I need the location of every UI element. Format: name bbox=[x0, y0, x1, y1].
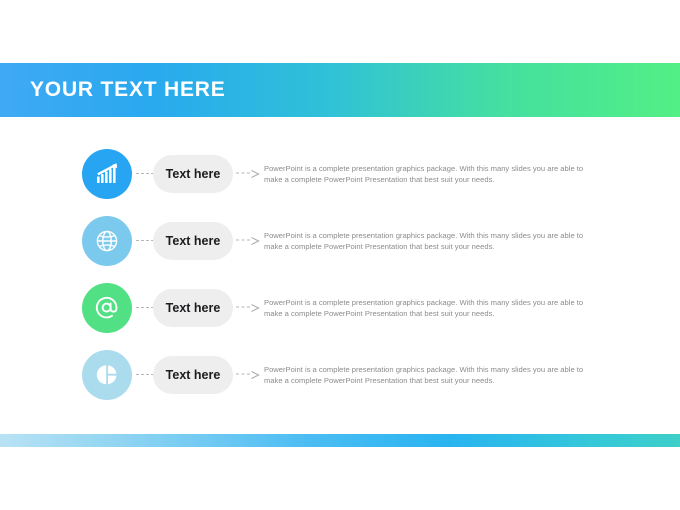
pill-label: Text here bbox=[166, 301, 221, 315]
pill-label: Text here bbox=[166, 234, 221, 248]
connector-dash-left bbox=[136, 240, 154, 242]
bar-chart-growth-icon bbox=[94, 161, 120, 187]
row-paragraph: PowerPoint is a complete presentation gr… bbox=[264, 364, 594, 386]
page-title: YOUR TEXT HERE bbox=[30, 78, 226, 102]
connector-dash-left bbox=[136, 173, 154, 175]
content-rows: Text here PowerPoint is a complete prese… bbox=[0, 140, 680, 408]
list-item[interactable]: Text here PowerPoint is a complete prese… bbox=[0, 140, 680, 207]
connector-dash-right bbox=[236, 303, 260, 312]
footer-band bbox=[0, 434, 680, 447]
connector-dash-right bbox=[236, 169, 260, 178]
globe-icon bbox=[94, 228, 120, 254]
icon-badge-bar-chart[interactable] bbox=[82, 149, 132, 199]
arrow-right-icon bbox=[251, 370, 260, 379]
connector-dash-left bbox=[136, 374, 154, 376]
dash-line bbox=[236, 240, 250, 242]
pill-label: Text here bbox=[166, 368, 221, 382]
list-item[interactable]: Text here PowerPoint is a complete prese… bbox=[0, 207, 680, 274]
header-band: YOUR TEXT HERE bbox=[0, 63, 680, 117]
pill-button[interactable]: Text here bbox=[153, 155, 233, 193]
icon-badge-pie-chart[interactable] bbox=[82, 350, 132, 400]
list-item[interactable]: Text here PowerPoint is a complete prese… bbox=[0, 274, 680, 341]
dash-line bbox=[236, 374, 250, 376]
arrow-right-icon bbox=[251, 169, 260, 178]
row-paragraph: PowerPoint is a complete presentation gr… bbox=[264, 230, 594, 252]
icon-badge-at-sign[interactable] bbox=[82, 283, 132, 333]
arrow-right-icon bbox=[251, 303, 260, 312]
row-paragraph: PowerPoint is a complete presentation gr… bbox=[264, 163, 594, 185]
pill-button[interactable]: Text here bbox=[153, 289, 233, 327]
at-sign-icon bbox=[93, 294, 121, 322]
pie-chart-icon bbox=[94, 362, 120, 388]
arrow-right-icon bbox=[251, 236, 260, 245]
dash-line bbox=[236, 307, 250, 309]
connector-dash-left bbox=[136, 307, 154, 309]
slide-canvas: YOUR TEXT HERE bbox=[0, 0, 680, 510]
pill-button[interactable]: Text here bbox=[153, 222, 233, 260]
list-item[interactable]: Text here PowerPoint is a complete prese… bbox=[0, 341, 680, 408]
pill-button[interactable]: Text here bbox=[153, 356, 233, 394]
dash-line bbox=[236, 173, 250, 175]
pill-label: Text here bbox=[166, 167, 221, 181]
connector-dash-right bbox=[236, 370, 260, 379]
icon-badge-globe[interactable] bbox=[82, 216, 132, 266]
row-paragraph: PowerPoint is a complete presentation gr… bbox=[264, 297, 594, 319]
connector-dash-right bbox=[236, 236, 260, 245]
